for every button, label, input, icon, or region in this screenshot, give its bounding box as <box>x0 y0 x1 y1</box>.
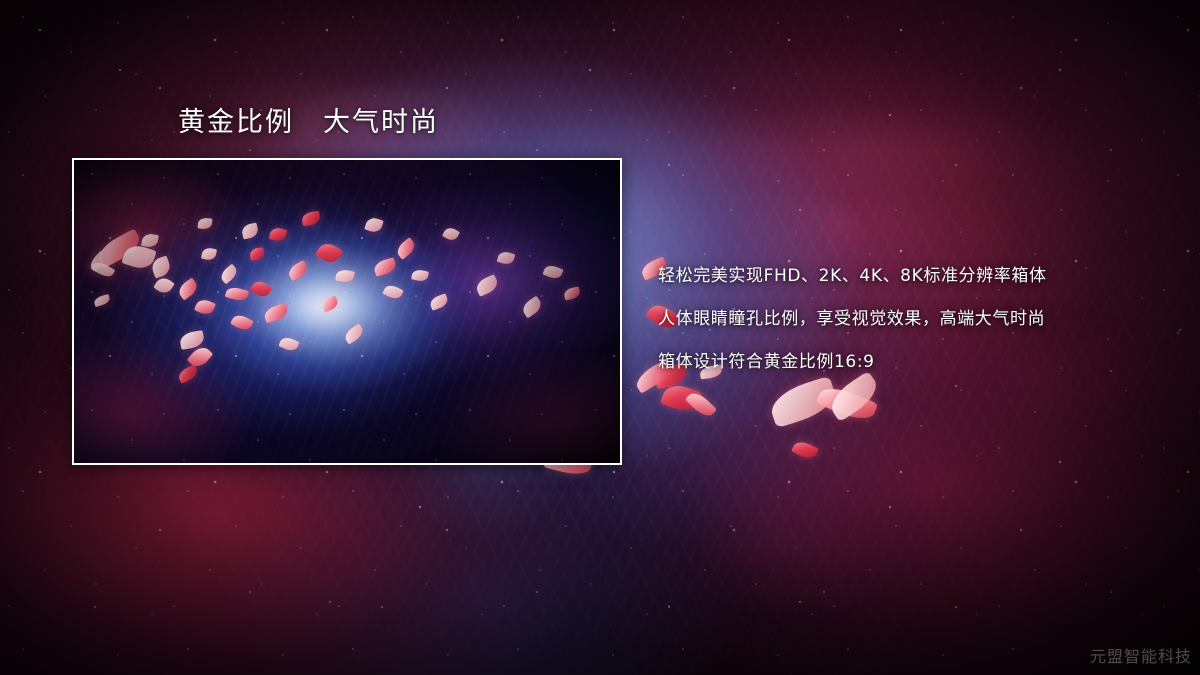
picture-vignette <box>74 160 620 463</box>
petal-decoration <box>685 389 717 421</box>
slide-canvas: 黄金比例 大气时尚 <box>0 0 1200 675</box>
petal-large-decoration <box>816 382 878 425</box>
framed-image <box>72 158 622 465</box>
body-text-line: 人体眼睛瞳孔比例，享受视觉效果，高端大气时尚 <box>658 298 1168 341</box>
body-text-line: 箱体设计符合黄金比例16:9 <box>658 341 1168 384</box>
body-text-line: 轻松完美实现FHD、2K、4K、8K标准分辨率箱体 <box>658 255 1168 298</box>
watermark-label: 元盟智能科技 <box>1090 643 1192 667</box>
page-title: 黄金比例 大气时尚 <box>178 100 439 139</box>
body-text-block: 轻松完美实现FHD、2K、4K、8K标准分辨率箱体 人体眼睛瞳孔比例，享受视觉效… <box>658 255 1168 384</box>
petal-decoration <box>660 381 702 416</box>
petal-decoration <box>791 438 819 461</box>
framed-image-inner <box>74 160 620 463</box>
